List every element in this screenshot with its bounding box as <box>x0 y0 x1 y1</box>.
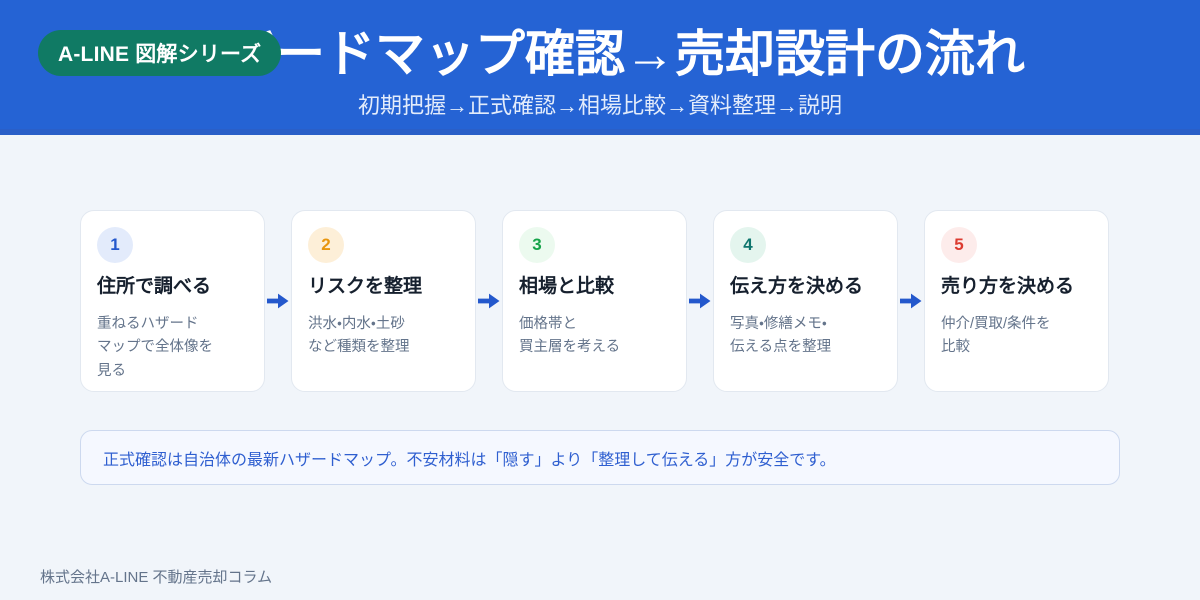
step-title: 相場と比較 <box>519 275 670 301</box>
arrow-right-icon <box>898 210 924 392</box>
step-card: 1 住所で調べる 重ねるハザード マップで全体像を 見る <box>80 210 265 392</box>
step-body: 仲介/買取/条件を 比較 <box>941 313 1092 360</box>
header-banner: A-LINE 図解シリーズ ハザードマップ確認→売却設計の流れ 初期把握→正式確… <box>0 0 1200 135</box>
step-card: 5 売り方を決める 仲介/買取/条件を 比較 <box>924 210 1109 392</box>
infographic-page: A-LINE 図解シリーズ ハザードマップ確認→売却設計の流れ 初期把握→正式確… <box>0 0 1200 600</box>
step-badge: 3 <box>519 227 555 263</box>
step-body: 重ねるハザード マップで全体像を 見る <box>97 313 248 383</box>
header-accent-strip <box>0 129 1200 135</box>
step-card: 2 リスクを整理 洪水・内水・土砂 など種類を整理 <box>291 210 476 392</box>
step-title: リスクを整理 <box>308 275 459 301</box>
step-card: 3 相場と比較 価格帯と 買主層を考える <box>502 210 687 392</box>
step-badge: 4 <box>730 227 766 263</box>
step-flow: 1 住所で調べる 重ねるハザード マップで全体像を 見る 2 リスクを整理 洪水… <box>80 210 1120 392</box>
arrow-right-icon <box>265 210 291 392</box>
footer-credit: 株式会社A-LINE 不動産売却コラム <box>40 566 272 587</box>
step-body: 価格帯と 買主層を考える <box>519 313 670 360</box>
note-text: 正式確認は自治体の最新ハザードマップ。不安材料は「隠す」より「整理して伝える」方… <box>103 446 836 470</box>
step-title: 売り方を決める <box>941 275 1092 301</box>
step-title: 伝え方を決める <box>730 275 881 301</box>
arrow-right-icon <box>687 210 713 392</box>
step-card: 4 伝え方を決める 写真・修繕メモ・ 伝える点を整理 <box>713 210 898 392</box>
step-badge: 2 <box>308 227 344 263</box>
page-subtitle: 初期把握→正式確認→相場比較→資料整理→説明 <box>0 88 1200 120</box>
step-badge: 1 <box>97 227 133 263</box>
note-banner: 正式確認は自治体の最新ハザードマップ。不安材料は「隠す」より「整理して伝える」方… <box>80 430 1120 485</box>
step-title: 住所で調べる <box>97 275 248 301</box>
step-body: 洪水・内水・土砂 など種類を整理 <box>308 313 459 360</box>
brand-pill: A-LINE 図解シリーズ <box>38 30 281 76</box>
step-body: 写真・修繕メモ・ 伝える点を整理 <box>730 313 881 360</box>
step-badge: 5 <box>941 227 977 263</box>
arrow-right-icon <box>476 210 502 392</box>
